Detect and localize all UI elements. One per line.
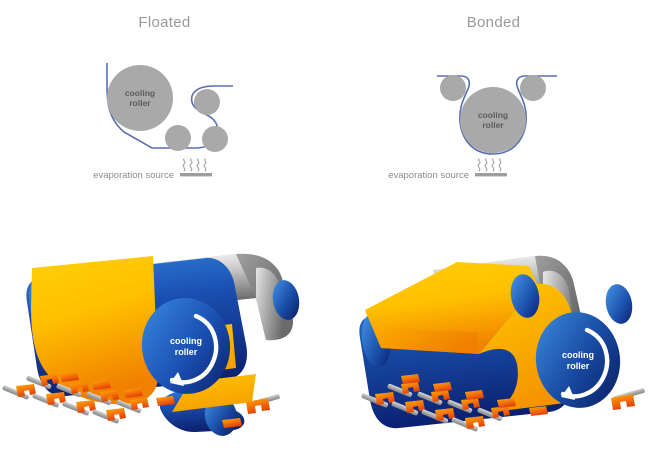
cooling-roller-label-3d-line2: roller <box>175 347 198 357</box>
cooling-roller-label-3d-bonded-line1: cooling <box>562 350 594 360</box>
evaporation-boat <box>62 400 96 416</box>
panel-title-bonded: Bonded <box>329 14 658 31</box>
schematic-bonded: cooling roller evaporation source <box>329 42 658 192</box>
evaporation-boat <box>2 384 36 400</box>
evaporation-source-label-bonded: evaporation source <box>388 170 469 181</box>
panel-bonded: Bonded cooling roller eva <box>329 0 658 454</box>
heat-wave-icon-floated <box>183 159 206 171</box>
evaporation-boat <box>451 416 485 432</box>
schematic-floated: cooling roller evaporation source <box>0 42 329 192</box>
idler-roller-upper-left-bonded <box>440 75 466 101</box>
evaporation-boat <box>92 408 126 424</box>
diagram-canvas: Floated cooling roller <box>0 0 658 454</box>
roller-end-far-right-bonded <box>603 282 636 326</box>
evaporation-bar-floated <box>180 173 212 176</box>
illustration-bonded: cooling roller <box>329 236 658 454</box>
evaporation-source-label-floated: evaporation source <box>93 170 174 181</box>
panel-floated: Floated cooling roller <box>0 0 329 454</box>
idler-roller-upper-right-floated <box>194 89 220 115</box>
idler-roller-upper-right-bonded <box>520 75 546 101</box>
cooling-roller-label-line1: cooling <box>125 88 155 98</box>
cooling-roller-label-bonded-line2: roller <box>482 120 504 130</box>
evaporation-boat <box>611 388 645 410</box>
cooling-roller-label-bonded-line1: cooling <box>478 110 508 120</box>
heat-wave-icon-bonded <box>478 159 501 171</box>
panel-title-floated: Floated <box>0 14 329 31</box>
idler-roller-lower-right-floated <box>202 126 228 152</box>
cooling-roller-label-3d-line1: cooling <box>170 336 202 346</box>
evaporation-bar-bonded <box>475 173 507 176</box>
idler-roller-lower-left-floated <box>165 125 191 151</box>
evaporation-boat <box>32 392 66 408</box>
cooling-roller-label-line2: roller <box>129 98 151 108</box>
illustration-floated: cooling roller <box>0 236 329 454</box>
cooling-roller-label-3d-bonded-line2: roller <box>567 361 590 371</box>
